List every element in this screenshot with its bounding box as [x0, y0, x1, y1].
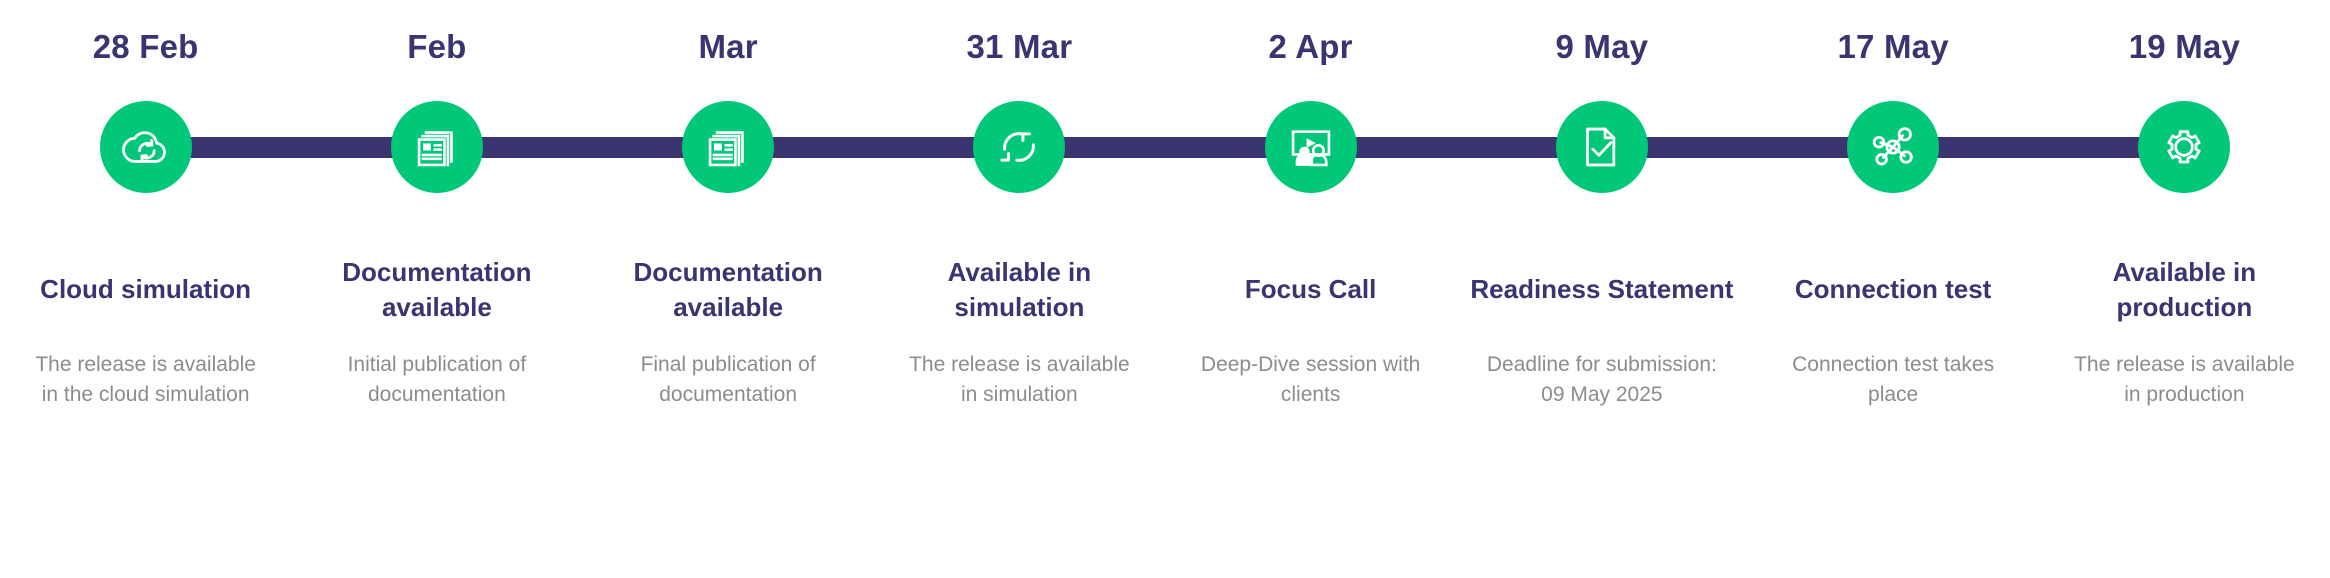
step-icon-circle[interactable] [2138, 101, 2230, 193]
timeline-step: 9 May Readiness Statement Deadline for s… [1456, 0, 1747, 578]
step-title: Connection test [1756, 244, 2030, 336]
timeline-step: 28 Feb Cloud simulation The release is a… [0, 0, 291, 578]
step-description: Deadline for submission: 09 May 2025 [1482, 350, 1721, 411]
step-title: Documentation available [300, 244, 574, 336]
step-icon-circle[interactable] [391, 101, 483, 193]
step-marker [291, 92, 582, 202]
step-marker [0, 92, 291, 202]
step-date: 28 Feb [93, 0, 199, 92]
step-title: Focus Call [1174, 244, 1448, 336]
step-date: 31 Mar [966, 0, 1072, 92]
step-marker [1748, 92, 2039, 202]
step-icon-circle[interactable] [1265, 101, 1357, 193]
cloud-sync-icon [118, 119, 174, 175]
step-title: Available in production [2047, 244, 2321, 336]
step-description: Connection test takes place [1774, 350, 2013, 411]
step-icon-circle[interactable] [1847, 101, 1939, 193]
step-title: Available in simulation [882, 244, 1156, 336]
presentation-people-icon [1283, 119, 1339, 175]
step-marker [1456, 92, 1747, 202]
step-title: Documentation available [591, 244, 865, 336]
step-title: Readiness Statement [1465, 244, 1739, 336]
step-date: Feb [407, 0, 466, 92]
refresh-sync-icon [991, 119, 1047, 175]
step-date: 9 May [1556, 0, 1649, 92]
release-timeline: 28 Feb Cloud simulation The release is a… [0, 0, 2330, 578]
step-title: Cloud simulation [9, 244, 283, 336]
step-description: Initial publication of documentation [317, 350, 556, 411]
documents-icon [409, 119, 465, 175]
step-date: 2 Apr [1269, 0, 1353, 92]
step-date: 17 May [1837, 0, 1948, 92]
network-nodes-icon [1865, 119, 1921, 175]
timeline-step: Mar Documentation available Final public… [583, 0, 874, 578]
gear-icon [2156, 119, 2212, 175]
timeline-step: 17 May Connection test Connection test t… [1748, 0, 2039, 578]
step-icon-circle[interactable] [973, 101, 1065, 193]
step-icon-circle[interactable] [682, 101, 774, 193]
timeline-step: 19 May Available in production The relea… [2039, 0, 2330, 578]
document-check-icon [1574, 119, 1630, 175]
step-date: Mar [698, 0, 757, 92]
step-description: Deep-Dive session with clients [1191, 350, 1430, 411]
step-icon-circle[interactable] [1556, 101, 1648, 193]
timeline-step: 2 Apr Focus Call Deep-Dive session with … [1165, 0, 1456, 578]
step-marker [2039, 92, 2330, 202]
timeline-step: 31 Mar Available in simulation The relea… [874, 0, 1165, 578]
step-description: The release is available in simulation [900, 350, 1139, 411]
step-marker [874, 92, 1165, 202]
step-marker [1165, 92, 1456, 202]
step-description: The release is available in the cloud si… [26, 350, 265, 411]
step-icon-circle[interactable] [100, 101, 192, 193]
timeline-step: Feb Documentation available Initial publ… [291, 0, 582, 578]
step-date: 19 May [2129, 0, 2240, 92]
step-description: The release is available in production [2065, 350, 2304, 411]
documents-icon [700, 119, 756, 175]
step-marker [583, 92, 874, 202]
step-description: Final publication of documentation [609, 350, 848, 411]
